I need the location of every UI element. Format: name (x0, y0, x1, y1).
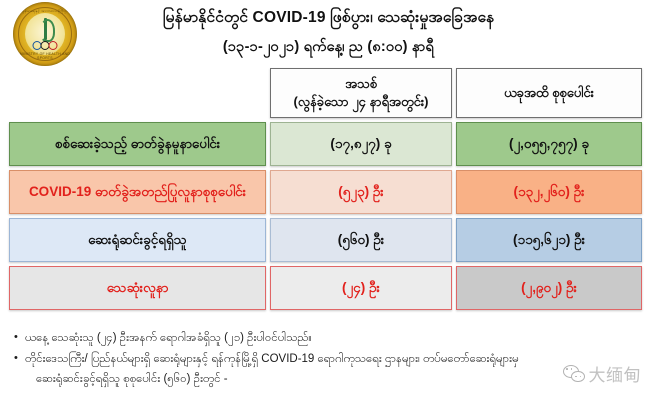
ministry-emblem-logo-icon: ကျန်းမာရေးနှင့် အားကစားဝန်ကြီးဌာန MINIST… (13, 2, 77, 66)
row-new-confirmed-cases: (၅၂၃) ဦး (270, 170, 452, 214)
footnote-deaths-comorbidity: ယနေ့ သေဆုံးသူ (၂၄) ဦးအနက် ရောဂါအခံရှိသူ … (25, 329, 645, 348)
footnote-discharge-sources: တိုင်းဒေသကြီး/ ပြည်နယ်များရှိ ဆေးရုံများ… (25, 350, 645, 369)
row-label-tests-conducted: စစ်ဆေးခဲ့သည့် ဓာတ်ခွဲနမူနာပေါင်း (9, 122, 266, 166)
row-total-tests-conducted: (၂,၀၅၅,၇၅၇) ခု (456, 122, 642, 166)
logo-bottom-text: MINISTRY OF HEALTH AND SPORTS (13, 52, 77, 60)
logo-snake-icon (40, 19, 55, 42)
row-label-confirmed-cases: COVID-19 ဓာတ်ခွဲအတည်ပြုလူနာစုစုပေါင်း (9, 170, 266, 214)
row-new-deaths: (၂၄) ဦး (270, 266, 452, 310)
header-cell-new: အသစ် (လွန်ခဲ့သော ၂၄ နာရီအတွင်း) (270, 68, 452, 118)
row-total-discharged: (၁၁၅,၆၂၁) ဦး (456, 218, 642, 262)
footnote-item: • တိုင်းဒေသကြီး/ ပြည်နယ်များရှိ ဆေးရုံမျ… (14, 350, 645, 369)
header-new-line2: (လွန်ခဲ့သော ၂၄ နာရီအတွင်း) (294, 93, 429, 111)
bullet-icon: • (14, 329, 25, 346)
bullet-icon: • (14, 350, 25, 367)
header-new-line1: အသစ် (294, 75, 429, 93)
table-row: ဆေးရုံဆင်းခွင့်ရရှိသူ (၅၆၀) ဦး (၁၁၅,၆၂၁)… (0, 218, 657, 266)
footnotes: • ယနေ့ သေဆုံးသူ (၂၄) ဦးအနက် ရောဂါအခံရှိသ… (0, 329, 657, 391)
table-header-row: အသစ် (လွန်ခဲ့သော ၂၄ နာရီအတွင်း) ယခုအထိ စ… (0, 66, 657, 122)
footnote-item: ဆေးရုံဆင်းခွင့်ရရှိသူ စုစုပေါင်း (၅၆၀) ဦ… (14, 370, 645, 389)
logo-olympic-rings-icon (33, 41, 58, 50)
row-label-discharged: ဆေးရုံဆင်းခွင့်ရရှိသူ (9, 218, 266, 262)
table-row: သေဆုံးလူနာ (၂၄) ဦး (၂,၉၀၂) ဦး (0, 266, 657, 314)
footnote-item: • ယနေ့ သေဆုံးသူ (၂၄) ဦးအနက် ရောဂါအခံရှိသ… (14, 329, 645, 348)
row-label-deaths: သေဆုံးလူနာ (9, 266, 266, 310)
table-row: စစ်ဆေးခဲ့သည့် ဓာတ်ခွဲနမူနာပေါင်း (၁၇,၈၂၇… (0, 122, 657, 170)
page-title: မြန်မာနိုင်ငံတွင် COVID-19 ဖြစ်ပွား၊ သေဆ… (0, 6, 657, 29)
covid-statistics-table: အသစ် (လွန်ခဲ့သော ၂၄ နာရီအတွင်း) ယခုအထိ စ… (0, 66, 657, 314)
page-subtitle-datetime: (၁၃-၁-၂၀၂၁) ရက်နေ့၊ ည (၈:၀၀) နာရီ (0, 37, 657, 59)
row-total-confirmed-cases: (၁၃၂,၂၆၀) ဦး (456, 170, 642, 214)
table-row: COVID-19 ဓာတ်ခွဲအတည်ပြုလူနာစုစုပေါင်း (၅… (0, 170, 657, 218)
header-cell-blank (9, 68, 266, 118)
title-block: မြန်မာနိုင်ငံတွင် COVID-19 ဖြစ်ပွား၊ သေဆ… (0, 0, 657, 59)
logo-top-text: ကျန်းမာရေးနှင့် အားကစားဝန်ကြီးဌာန (13, 9, 77, 14)
row-new-tests-conducted: (၁၇,၈၂၇) ခု (270, 122, 452, 166)
row-new-discharged: (၅၆၀) ဦး (270, 218, 452, 262)
page-header: ကျန်းမာရေးနှင့် အားကစားဝန်ကြီးဌာန MINIST… (0, 0, 657, 68)
header-cell-total: ယခုအထိ စုစုပေါင်း (456, 68, 642, 118)
row-total-deaths: (၂,၉၀၂) ဦး (456, 266, 642, 310)
footnote-discharge-total: ဆေးရုံဆင်းခွင့်ရရှိသူ စုစုပေါင်း (၅၆၀) ဦ… (36, 370, 645, 389)
